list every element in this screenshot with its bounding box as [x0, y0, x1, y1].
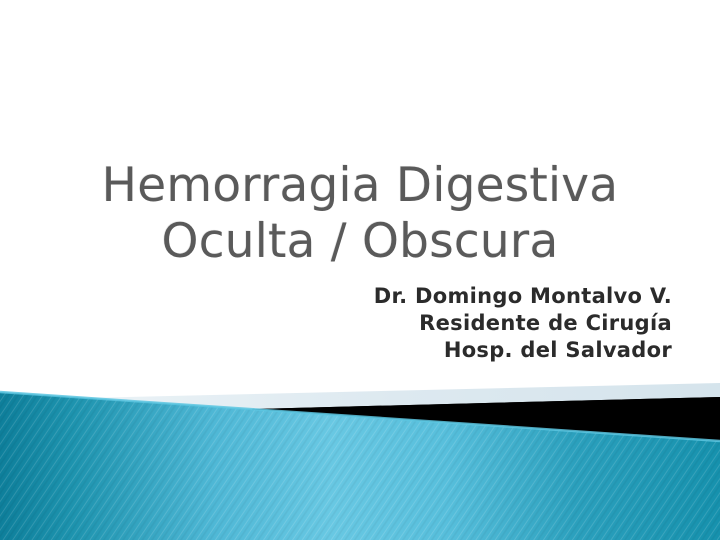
bottom-wedge-banner	[0, 0, 720, 540]
title-line-2: Oculta / Obscura	[0, 214, 720, 270]
subtitle-line-role: Residente de Cirugía	[232, 310, 672, 337]
slide-subtitle: Dr. Domingo Montalvo V. Residente de Cir…	[232, 283, 672, 364]
teal-wedge-shape	[0, 392, 720, 540]
subtitle-line-institution: Hosp. del Salvador	[232, 337, 672, 364]
title-line-1: Hemorragia Digestiva	[0, 158, 720, 214]
black-wedge-shape	[252, 397, 720, 540]
subtitle-line-author: Dr. Domingo Montalvo V.	[232, 283, 672, 310]
light-band-shape	[0, 383, 720, 540]
presentation-slide: Hemorragia Digestiva Oculta / Obscura Dr…	[0, 0, 720, 540]
slide-title: Hemorragia Digestiva Oculta / Obscura	[0, 158, 720, 270]
